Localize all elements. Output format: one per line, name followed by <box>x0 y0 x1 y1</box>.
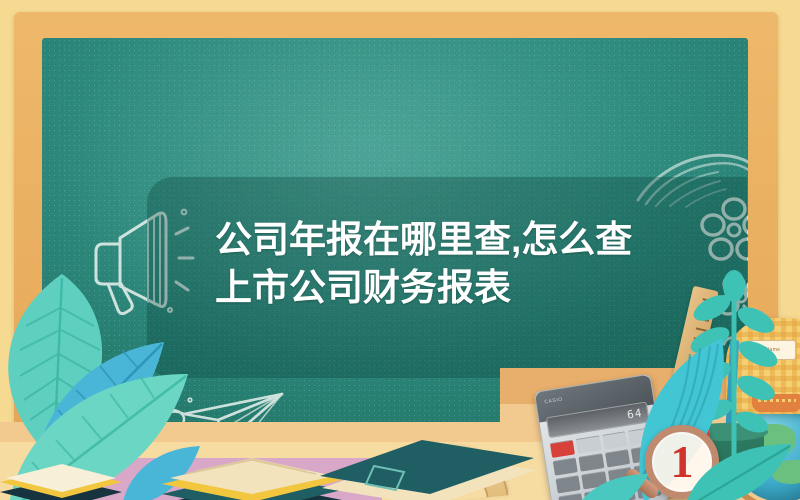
calculator-key[interactable] <box>579 453 604 471</box>
leaf-decoration-center-low <box>568 470 652 500</box>
page-title: 公司年报在哪里查,怎么查 上市公司财务报表 <box>215 216 745 312</box>
headline-line-1: 公司年报在哪里查,怎么查 <box>215 216 745 264</box>
calculator-key[interactable] <box>576 435 601 453</box>
calculator-key[interactable] <box>602 431 627 449</box>
banner-stage: 公司年报在哪里查,怎么查 上市公司财务报表 <box>0 0 800 500</box>
headline-line-2: 上市公司财务报表 <box>215 264 745 312</box>
book-tilted-center <box>312 418 542 500</box>
book-stack-far-left <box>0 452 126 500</box>
calculator-key-ac[interactable] <box>550 439 575 457</box>
leaf-decoration-right-low <box>678 436 798 500</box>
